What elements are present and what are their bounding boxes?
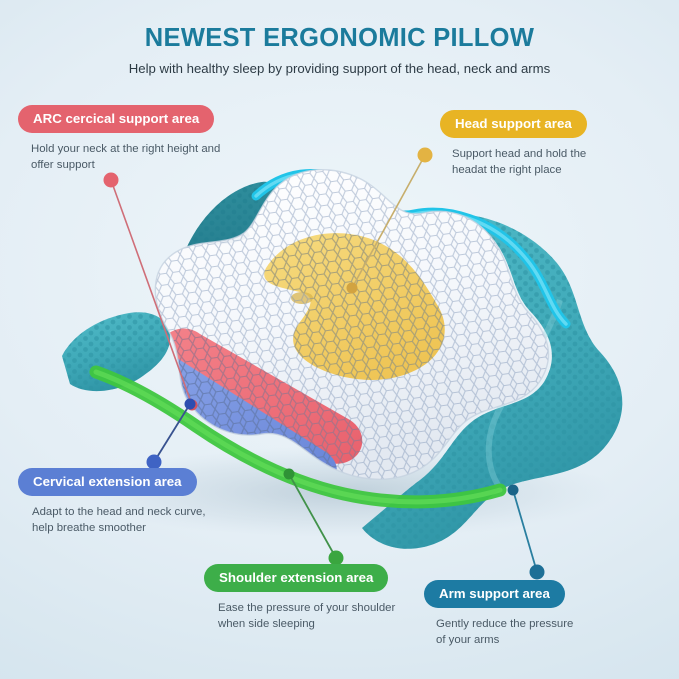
callout-shoulder-extension: Shoulder extension area Ease the pressur… (204, 564, 395, 633)
callout-label-arm[interactable]: Arm support area (424, 580, 565, 608)
callout-desc-cervical: Adapt to the head and neck curve, help b… (32, 505, 206, 536)
callout-desc-shoulder: Ease the pressure of your shoulder when … (218, 601, 395, 632)
callout-desc-arc: Hold your neck at the right height and o… (31, 142, 220, 173)
callout-cervical-extension: Cervical extension area Adapt to the hea… (18, 468, 206, 537)
callout-label-arc[interactable]: ARC cercical support area (18, 105, 214, 133)
callout-head-support: Head support area Support head and hold … (440, 110, 587, 179)
page-subtitle: Help with healthy sleep by providing sup… (0, 61, 679, 77)
callout-label-shoulder[interactable]: Shoulder extension area (204, 564, 388, 592)
callout-arm-support: Arm support area Gently reduce the press… (424, 580, 573, 649)
callout-desc-head: Support head and hold the headat the rig… (452, 147, 587, 178)
callout-desc-arm: Gently reduce the pressure of your arms (436, 617, 573, 648)
infographic-page: NEWEST ERGONOMIC PILLOW Help with health… (0, 0, 679, 679)
header: NEWEST ERGONOMIC PILLOW Help with health… (0, 24, 679, 77)
callout-label-head[interactable]: Head support area (440, 110, 587, 138)
page-title: NEWEST ERGONOMIC PILLOW (0, 24, 679, 52)
callout-arc-cervical-support: ARC cercical support area Hold your neck… (18, 105, 220, 174)
callout-label-cervical[interactable]: Cervical extension area (18, 468, 197, 496)
